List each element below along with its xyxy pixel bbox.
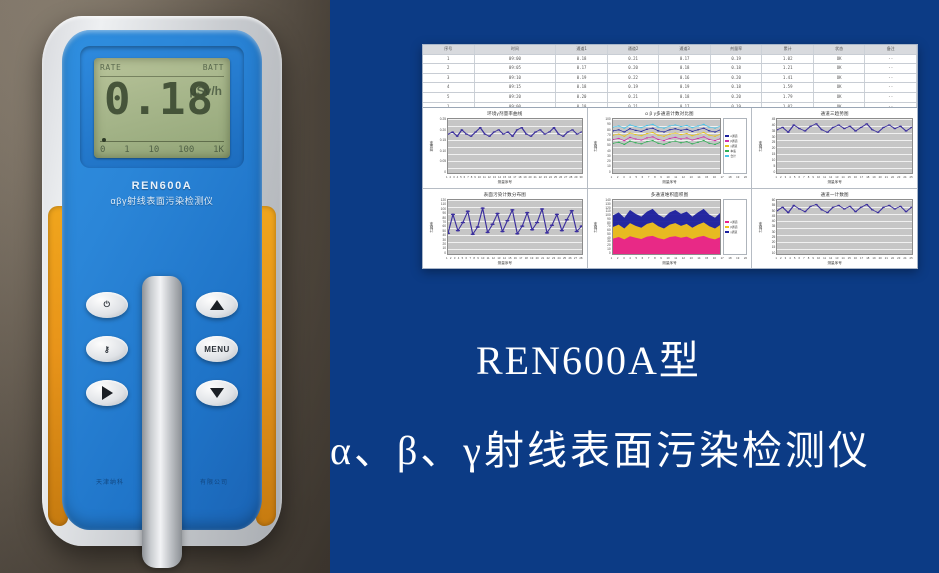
- table-header-cell: 序号: [423, 45, 475, 54]
- y-tick-label: 30: [772, 231, 776, 234]
- x-tick-label: 17: [860, 256, 863, 260]
- detector-device: RATE BATT 0.18 μSv/h 0 1 10 100 1K: [42, 16, 282, 546]
- y-tick-label: 20: [772, 147, 776, 150]
- x-tick-label: 11: [823, 256, 826, 260]
- table-cell: 0.18: [711, 64, 763, 73]
- x-tick-label: 2: [780, 256, 782, 260]
- x-tick-label: 1: [775, 256, 777, 260]
- x-tick-label: 3: [623, 175, 625, 179]
- table-cell: 1.79: [762, 93, 814, 102]
- y-axis-ticks: 6055504540353025201510: [762, 199, 776, 255]
- plot-wrapper: 计数率6055504540353025201510: [756, 199, 913, 255]
- x-tick-label: 9: [812, 256, 814, 260]
- menu-button[interactable]: MENU: [196, 336, 238, 362]
- legend-swatch: [725, 221, 729, 223]
- key-lock-button[interactable]: ⚷: [86, 336, 128, 362]
- x-tick-label: 26: [559, 175, 562, 179]
- chart-title: 通道三趋势图: [756, 111, 913, 117]
- x-tick-label: 17: [519, 256, 522, 260]
- x-tick-label: 6: [798, 175, 800, 179]
- x-tick-label: 13: [835, 256, 838, 260]
- x-tick-label: 15: [503, 175, 506, 179]
- table-cell: 0.18: [659, 93, 711, 102]
- plot-area: [776, 199, 913, 255]
- x-tick-label: 15: [705, 175, 708, 179]
- y-tick-label: 60: [772, 199, 776, 202]
- x-tick-label: 20: [536, 256, 539, 260]
- x-tick-label: 23: [544, 175, 547, 179]
- x-tick-label: 17: [721, 175, 724, 179]
- x-tick-label: 24: [549, 175, 552, 179]
- x-tick-label: 9: [660, 256, 662, 260]
- x-tick-label: 2: [617, 175, 619, 179]
- x-tick-label: 26: [568, 256, 571, 260]
- legend-item: γ通道: [725, 144, 745, 148]
- x-tick-label: 27: [574, 256, 577, 260]
- x-tick-label: 14: [841, 175, 844, 179]
- x-tick-label: 3: [785, 256, 787, 260]
- y-tick-label: 35: [772, 130, 776, 133]
- table-header-cell: 时间: [475, 45, 557, 54]
- x-tick-label: 6: [642, 175, 644, 179]
- page-subtitle: α、β、γ射线表面污染检测仪: [330, 418, 938, 476]
- x-axis-ticks: 1234567891011121314151617181920212223242…: [756, 255, 913, 260]
- x-tick-label: 7: [469, 256, 471, 260]
- table-header-cell: 通道2: [608, 45, 660, 54]
- lcd-scale-tick: 100: [178, 145, 194, 155]
- x-tick-label: 7: [648, 256, 650, 260]
- x-tick-label: 13: [690, 256, 693, 260]
- table-cell: 4: [423, 83, 475, 92]
- x-tick-label: 7: [648, 175, 650, 179]
- y-tick-label: 15: [772, 246, 776, 249]
- table-header-cell: 状态: [814, 45, 866, 54]
- x-tick-label: 19: [523, 175, 526, 179]
- x-tick-label: 23: [897, 175, 900, 179]
- x-tick-label: 5: [460, 175, 462, 179]
- x-tick-label: 17: [721, 256, 724, 260]
- device-model-text: REN600A: [62, 180, 262, 192]
- y-tick-label: 40: [772, 124, 776, 127]
- x-axis-label: 测量序号: [427, 261, 583, 266]
- x-tick-label: 23: [897, 256, 900, 260]
- x-tick-label: 11: [674, 175, 677, 179]
- chart-title: 通道一计数图: [756, 192, 913, 198]
- x-tick-label: 10: [817, 256, 820, 260]
- legend-item: β通道: [725, 139, 745, 143]
- x-tick-label: 22: [891, 256, 894, 260]
- table-cell: 0.18: [556, 83, 608, 92]
- y-tick-label: 40: [772, 220, 776, 223]
- lcd-scale-tick: 1: [124, 145, 129, 155]
- legend-swatch: [725, 155, 729, 157]
- y-axis-ticks: 454035302520151050: [762, 118, 776, 174]
- y-tick-label: 0.15: [440, 139, 446, 142]
- x-tick-label: 10: [817, 175, 820, 179]
- x-tick-label: 14: [841, 256, 844, 260]
- x-tick-label: 20: [744, 256, 747, 260]
- legend-label: γ通道: [730, 144, 737, 148]
- x-tick-label: 4: [457, 175, 459, 179]
- x-tick-label: 9: [660, 175, 662, 179]
- x-tick-label: 5: [462, 256, 464, 260]
- plot-wrapper: 计数率454035302520151050: [756, 118, 913, 174]
- plot-wrapper: 计数率1401301201101009080706050403020100α通道…: [592, 199, 748, 255]
- x-tick-label: 20: [879, 256, 882, 260]
- x-tick-label: 21: [534, 175, 537, 179]
- x-tick-label: 10: [481, 256, 484, 260]
- table-header-cell: 累计: [762, 45, 814, 54]
- table-row: 509:200.200.210.180.201.79OK--: [423, 93, 917, 103]
- x-tick-label: 20: [529, 175, 532, 179]
- x-tick-label: 8: [808, 175, 810, 179]
- table-cell: 0.21: [608, 93, 660, 102]
- table-cell: 0.17: [556, 64, 608, 73]
- x-tick-label: 18: [525, 256, 528, 260]
- x-tick-label: 11: [483, 175, 486, 179]
- x-tick-label: 5: [635, 256, 637, 260]
- x-tick-label: 2: [450, 256, 452, 260]
- table-cell: 0.20: [711, 93, 763, 102]
- x-tick-label: 7: [803, 256, 805, 260]
- table-cell: OK: [814, 74, 866, 83]
- y-tick-label: 10: [772, 252, 776, 255]
- device-front-face: RATE BATT 0.18 μSv/h 0 1 10 100 1K: [62, 30, 262, 530]
- x-axis-ticks: 1234567891011121314151617181920212223242…: [756, 174, 913, 179]
- x-tick-label: 14: [697, 256, 700, 260]
- x-tick-label: 16: [508, 175, 511, 179]
- table-cell: 0.17: [659, 55, 711, 64]
- menu-button-label: MENU: [204, 345, 230, 354]
- x-tick-label: 16: [854, 256, 857, 260]
- x-tick-label: 22: [539, 175, 542, 179]
- legend-label: 合计: [730, 154, 736, 158]
- down-button[interactable]: [196, 380, 238, 406]
- y-tick-label: 90: [442, 212, 446, 215]
- power-icon: ⏻: [104, 300, 111, 310]
- data-table: 序号时间通道1通道2通道3剂量率累计状态备注109:000.180.210.17…: [423, 45, 917, 108]
- x-tick-label: 8: [654, 256, 656, 260]
- x-tick-label: 30: [579, 175, 582, 179]
- table-cell: 0.18: [556, 55, 608, 64]
- plot-wrapper: 计数率1009080706050403020100α通道β通道γ通道本底合计: [592, 118, 748, 174]
- table-cell: --: [865, 93, 917, 102]
- x-tick-label: 13: [835, 175, 838, 179]
- x-tick-label: 3: [785, 175, 787, 179]
- table-row: 409:150.180.190.190.181.59OK--: [423, 83, 917, 93]
- x-tick-label: 9: [812, 175, 814, 179]
- play-button[interactable]: [86, 380, 128, 406]
- plot-wrapper: 剂量率0.250.200.150.100.050: [427, 118, 583, 174]
- x-tick-label: 25: [554, 175, 557, 179]
- y-tick-label: 15: [772, 153, 776, 156]
- y-tick-label: 0.20: [440, 129, 446, 132]
- x-tick-label: 14: [498, 175, 501, 179]
- y-tick-label: 10: [607, 165, 611, 168]
- table-cell: 09:00: [475, 55, 557, 64]
- y-tick-label: 30: [772, 136, 776, 139]
- key-icon: ⚷: [104, 345, 110, 354]
- lcd-status-right: BATT: [203, 63, 224, 72]
- x-tick-label: 9: [474, 175, 476, 179]
- device-printed-label: REN600A αβγ射线表面污染检测仪: [62, 180, 262, 207]
- table-row: 109:000.180.210.170.191.02OK--: [423, 55, 917, 65]
- x-tick-label: 15: [508, 256, 511, 260]
- table-cell: 0.19: [608, 83, 660, 92]
- table-cell: --: [865, 55, 917, 64]
- table-row: 209:050.170.200.180.181.21OK--: [423, 64, 917, 74]
- x-tick-label: 1: [611, 175, 613, 179]
- play-icon: [102, 386, 113, 400]
- table-header-cell: 剂量率: [711, 45, 763, 54]
- x-tick-label: 2: [450, 175, 452, 179]
- y-axis-ticks: 1401301201101009080706050403020100: [598, 199, 612, 255]
- x-tick-label: 6: [464, 175, 466, 179]
- legend-swatch: [725, 231, 729, 233]
- plot-wrapper: 计数率1201101009080706050403020100: [427, 199, 583, 255]
- table-cell: 09:10: [475, 74, 557, 83]
- plot-area: [612, 199, 722, 255]
- x-tick-label: 18: [728, 256, 731, 260]
- legend-item: α通道: [725, 220, 745, 224]
- x-tick-label: 2: [780, 175, 782, 179]
- x-tick-label: 6: [642, 256, 644, 260]
- x-tick-label: 19: [736, 256, 739, 260]
- x-tick-label: 21: [885, 175, 888, 179]
- x-tick-label: 13: [493, 175, 496, 179]
- x-tick-label: 12: [488, 175, 491, 179]
- x-tick-label: 1: [446, 175, 448, 179]
- x-tick-label: 8: [473, 256, 475, 260]
- x-tick-label: 20: [879, 175, 882, 179]
- x-axis-label: 测量序号: [592, 180, 748, 185]
- table-cell: OK: [814, 83, 866, 92]
- legend-swatch: [725, 150, 729, 152]
- y-tick-label: 20: [607, 160, 611, 163]
- x-tick-label: 11: [674, 256, 677, 260]
- y-tick-label: 25: [772, 141, 776, 144]
- x-tick-label: 1: [611, 256, 613, 260]
- legend-label: α通道: [730, 134, 737, 138]
- x-tick-label: 17: [860, 175, 863, 179]
- micro-print-left: 天津纳科: [96, 477, 124, 486]
- x-tick-label: 3: [623, 256, 625, 260]
- y-tick-label: 45: [772, 215, 776, 218]
- legend-label: β通道: [730, 225, 737, 229]
- x-tick-label: 4: [629, 256, 631, 260]
- y-tick-label: 35: [772, 225, 776, 228]
- legend-label: γ通道: [730, 230, 737, 234]
- legend-label: 本底: [730, 149, 736, 153]
- power-button[interactable]: ⏻: [86, 292, 128, 318]
- x-axis-label: 测量序号: [756, 261, 913, 266]
- plot-area: [447, 118, 583, 174]
- x-tick-label: 15: [848, 175, 851, 179]
- chart-panel[interactable]: 表面污染计数分布图计数率1201101009080706050403020100…: [423, 189, 588, 269]
- x-tick-label: 25: [563, 256, 566, 260]
- x-tick-label: 12: [682, 256, 685, 260]
- x-tick-label: 16: [514, 256, 517, 260]
- x-tick-label: 12: [682, 175, 685, 179]
- chart-title: 表面污染计数分布图: [427, 192, 583, 198]
- y-tick-label: 40: [442, 234, 446, 237]
- table-cell: 1: [423, 55, 475, 64]
- y-tick-label: 0.25: [440, 118, 446, 121]
- chart-panel[interactable]: 通道一计数图计数率6055504540353025201510123456789…: [752, 189, 917, 269]
- device-micro-print: 天津纳科 有限公司: [62, 477, 262, 486]
- y-tick-label: 0: [444, 252, 446, 255]
- device-subtitle-text: αβγ射线表面污染检测仪: [62, 194, 262, 207]
- y-tick-label: 0: [609, 171, 611, 174]
- x-tick-label: 3: [453, 175, 455, 179]
- table-cell: 0.18: [659, 64, 711, 73]
- x-tick-label: 13: [497, 256, 500, 260]
- x-tick-label: 12: [492, 256, 495, 260]
- legend-item: 合计: [725, 154, 745, 158]
- y-tick-label: 5: [774, 165, 776, 168]
- x-axis-ticks: 1234567891011121314151617181920212223242…: [427, 255, 583, 260]
- y-tick-label: 0: [774, 171, 776, 174]
- x-tick-label: 22: [891, 175, 894, 179]
- x-tick-label: 21: [541, 256, 544, 260]
- lcd-scale-tick: 0: [100, 145, 105, 155]
- x-tick-label: 9: [477, 256, 479, 260]
- plot-area: [612, 118, 722, 174]
- up-button[interactable]: [196, 292, 238, 318]
- x-tick-label: 14: [503, 256, 506, 260]
- x-tick-label: 24: [903, 175, 906, 179]
- table-cell: --: [865, 74, 917, 83]
- y-tick-label: 20: [772, 241, 776, 244]
- table-cell: 09:15: [475, 83, 557, 92]
- x-axis-ticks: 1234567891011121314151617181920212223242…: [427, 174, 583, 179]
- x-tick-label: 16: [713, 256, 716, 260]
- chart-legend: α通道β通道γ通道本底合计: [723, 118, 747, 174]
- x-tick-label: 10: [478, 175, 481, 179]
- table-cell: 0.16: [659, 74, 711, 83]
- chart-panel[interactable]: 多通道堆积面积图计数率14013012011010090807060504030…: [588, 189, 753, 269]
- x-tick-label: 22: [547, 256, 550, 260]
- x-tick-label: 1: [775, 175, 777, 179]
- lcd-reading-unit: μSv/h: [189, 84, 222, 98]
- x-tick-label: 3: [454, 256, 456, 260]
- x-tick-label: 18: [728, 175, 731, 179]
- table-header-cell: 备注: [865, 45, 917, 54]
- y-tick-label: 50: [607, 144, 611, 147]
- x-tick-label: 19: [736, 175, 739, 179]
- lcd-status-left: RATE: [100, 63, 121, 72]
- lcd-display: RATE BATT 0.18 μSv/h 0 1 10 100 1K: [94, 58, 230, 158]
- x-tick-label: 18: [866, 175, 869, 179]
- lcd-bargraph: [100, 141, 224, 142]
- x-tick-label: 11: [823, 175, 826, 179]
- table-cell: 0.20: [711, 74, 763, 83]
- table-header-row: 序号时间通道1通道2通道3剂量率累计状态备注: [423, 45, 917, 55]
- y-tick-label: 0.10: [440, 150, 446, 153]
- y-tick-label: 0.05: [440, 160, 446, 163]
- table-cell: 1.41: [762, 74, 814, 83]
- x-tick-label: 13: [690, 175, 693, 179]
- table-cell: 0.18: [711, 83, 763, 92]
- x-tick-label: 24: [558, 256, 561, 260]
- x-tick-label: 10: [666, 256, 669, 260]
- x-tick-label: 15: [848, 256, 851, 260]
- table-cell: 0.19: [659, 83, 711, 92]
- table-cell: 2: [423, 64, 475, 73]
- legend-swatch: [725, 140, 729, 142]
- legend-swatch: [725, 145, 729, 147]
- x-axis-ticks: 1234567891011121314151617181920: [592, 174, 748, 179]
- product-photo: RATE BATT 0.18 μSv/h 0 1 10 100 1K: [0, 0, 330, 573]
- x-tick-label: 1: [446, 256, 448, 260]
- y-tick-label: 40: [607, 150, 611, 153]
- table-cell: 0.19: [711, 55, 763, 64]
- x-tick-label: 6: [466, 256, 468, 260]
- x-tick-label: 8: [654, 175, 656, 179]
- slide-root: RATE BATT 0.18 μSv/h 0 1 10 100 1K: [0, 0, 939, 573]
- y-tick-label: 10: [772, 159, 776, 162]
- chart-title: α β γ多通道计数对比图: [592, 111, 748, 117]
- chevron-up-icon: [210, 300, 224, 310]
- legend-item: α通道: [725, 134, 745, 138]
- table-cell: OK: [814, 55, 866, 64]
- table-cell: --: [865, 83, 917, 92]
- chart-panel[interactable]: α β γ多通道计数对比图计数率1009080706050403020100α通…: [588, 108, 753, 189]
- x-tick-label: 19: [872, 256, 875, 260]
- y-axis-ticks: 0.250.200.150.100.050: [433, 118, 447, 174]
- table-cell: 0.19: [556, 74, 608, 83]
- table-cell: 09:05: [475, 64, 557, 73]
- legend-item: β通道: [725, 225, 745, 229]
- table-cell: 1.02: [762, 55, 814, 64]
- x-tick-label: 19: [530, 256, 533, 260]
- x-tick-label: 5: [635, 175, 637, 179]
- micro-print-right: 有限公司: [200, 477, 228, 486]
- legend-item: 本底: [725, 149, 745, 153]
- x-tick-label: 23: [552, 256, 555, 260]
- x-tick-label: 17: [513, 175, 516, 179]
- legend-swatch: [725, 135, 729, 137]
- y-axis-ticks: 1201101009080706050403020100: [433, 199, 447, 255]
- legend-swatch: [725, 226, 729, 228]
- chart-panel[interactable]: 通道三趋势图计数率4540353025201510501234567891011…: [752, 108, 917, 189]
- y-tick-label: 30: [607, 155, 611, 158]
- software-screenshot-thumbnail: 序号时间通道1通道2通道3剂量率累计状态备注109:000.180.210.17…: [422, 44, 918, 269]
- table-cell: OK: [814, 93, 866, 102]
- plot-area: [447, 199, 583, 255]
- x-tick-label: 18: [866, 256, 869, 260]
- x-tick-label: 14: [697, 175, 700, 179]
- x-axis-label: 测量序号: [592, 261, 748, 266]
- x-axis-ticks: 1234567891011121314151617181920: [592, 255, 748, 260]
- x-tick-label: 12: [829, 175, 832, 179]
- x-tick-label: 29: [574, 175, 577, 179]
- page-title: REN600A型: [476, 328, 916, 386]
- legend-label: β通道: [730, 139, 737, 143]
- y-axis-ticks: 1009080706050403020100: [598, 118, 612, 174]
- x-tick-label: 28: [569, 175, 572, 179]
- x-tick-label: 28: [579, 256, 582, 260]
- chart-panel[interactable]: 环境γ剂量率曲线剂量率0.250.200.150.100.05012345678…: [423, 108, 588, 189]
- y-tick-label: 45: [772, 118, 776, 121]
- keypad: ⏻ ⚷ MENU: [62, 292, 262, 412]
- table-cell: OK: [814, 64, 866, 73]
- y-tick-label: 0: [609, 252, 611, 255]
- x-tick-label: 20: [744, 175, 747, 179]
- x-tick-label: 6: [798, 256, 800, 260]
- y-tick-label: 0: [444, 171, 446, 174]
- x-axis-label: 测量序号: [756, 180, 913, 185]
